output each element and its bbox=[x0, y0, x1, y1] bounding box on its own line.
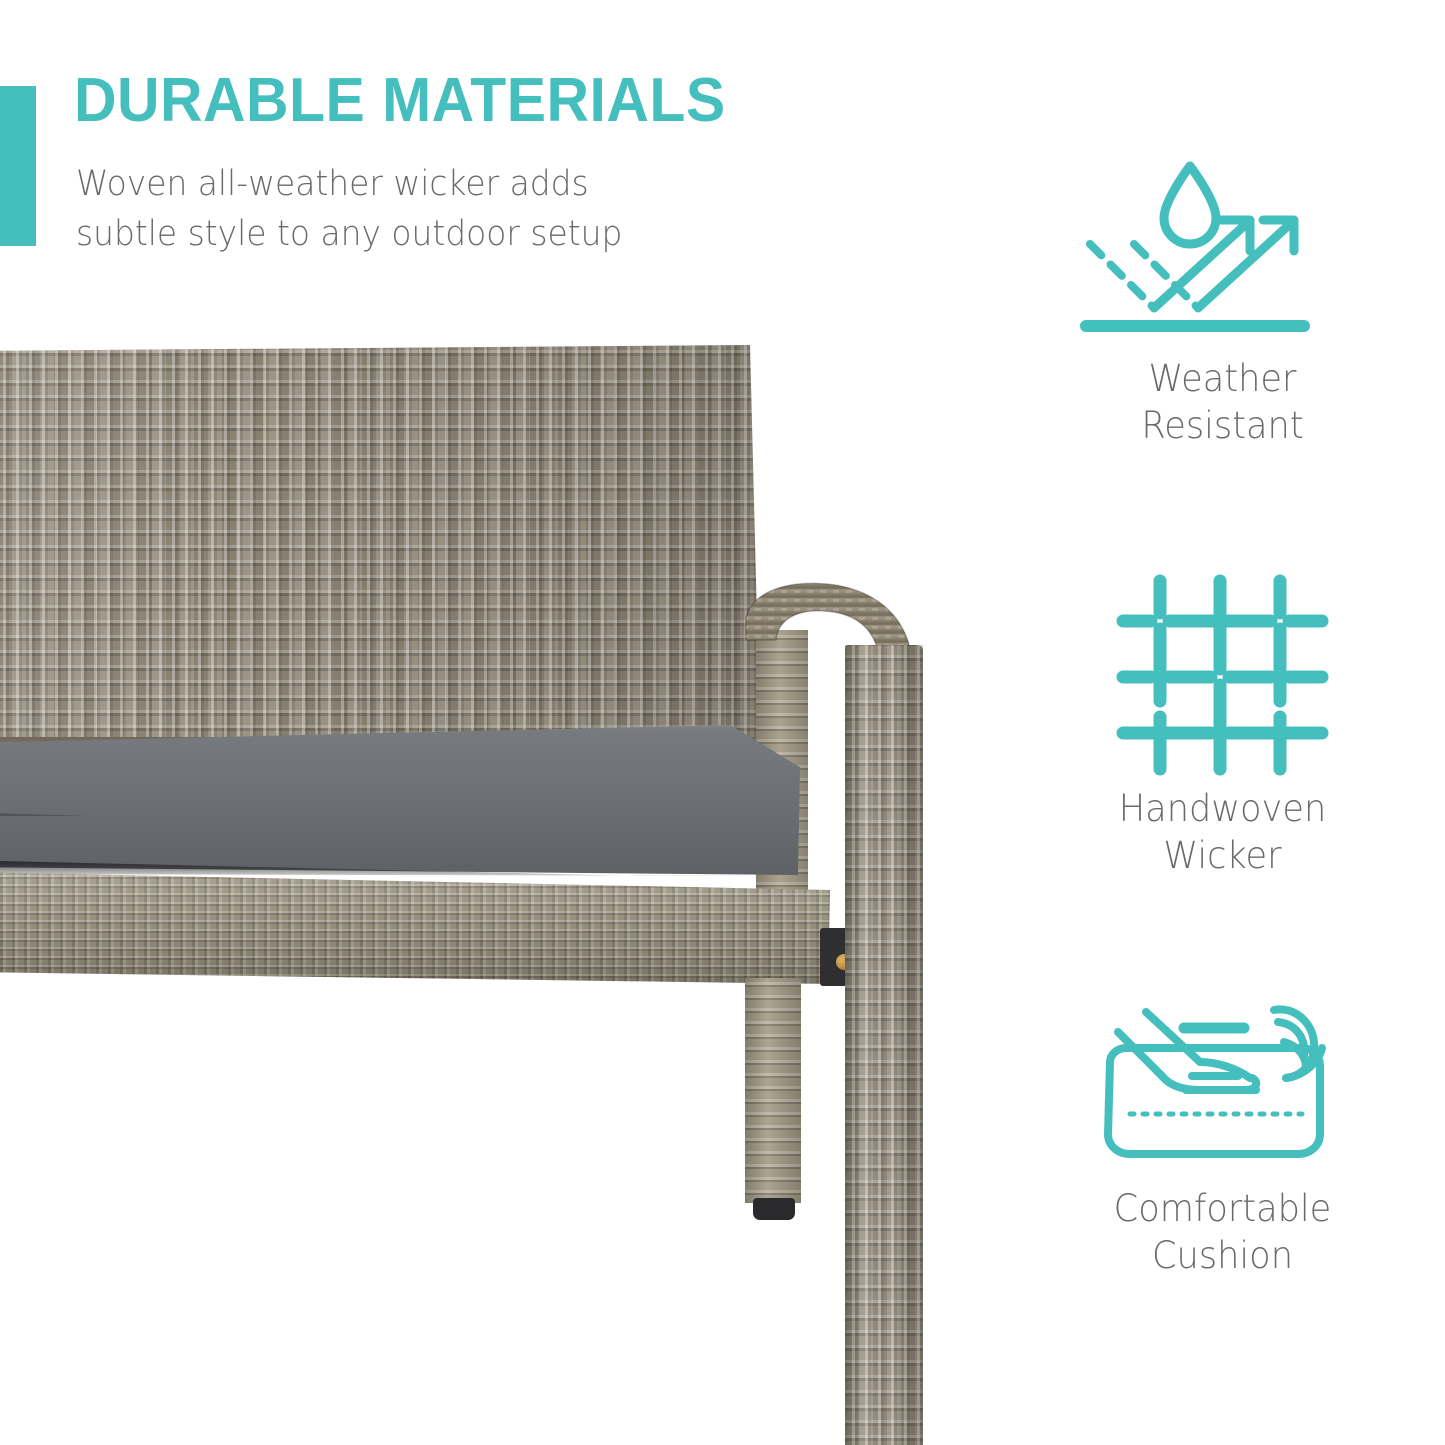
bench-front-leg bbox=[845, 645, 923, 1445]
backrest-shading bbox=[0, 345, 760, 740]
apron-shading bbox=[0, 872, 850, 992]
subtitle-line-2: subtle style to any outdoor setup bbox=[76, 210, 819, 260]
product-photo bbox=[0, 300, 1000, 1445]
feature-handwoven-wicker: Handwoven Wicker bbox=[1000, 565, 1445, 880]
feature-label-line-1: Weather bbox=[1011, 355, 1434, 402]
woven-weave-grid-icon bbox=[1000, 565, 1445, 785]
feature-label-line-2: Resistant bbox=[1011, 402, 1434, 449]
features-column: Weather Resistant Handwo bbox=[1000, 0, 1445, 1445]
bench-rear-leg bbox=[745, 978, 801, 1203]
page-title: DURABLE MATERIALS bbox=[74, 68, 726, 133]
subtitle-line-1: Woven all-weather wicker adds bbox=[76, 164, 589, 204]
front-leg-shading bbox=[845, 645, 923, 1445]
seat-cushion bbox=[0, 725, 840, 885]
feature-label-weather-resistant: Weather Resistant bbox=[1011, 355, 1434, 450]
water-droplet-repel-icon bbox=[1000, 140, 1445, 355]
feature-label-comfortable-cushion: Comfortable Cushion bbox=[1011, 1185, 1434, 1280]
feature-label-line-1: Handwoven bbox=[1011, 785, 1434, 832]
feature-label-line-1: Comfortable bbox=[1011, 1185, 1434, 1232]
feature-weather-resistant: Weather Resistant bbox=[1000, 140, 1445, 450]
rear-leg-foot bbox=[753, 1198, 795, 1220]
feature-comfortable-cushion: Comfortable Cushion bbox=[1000, 985, 1445, 1280]
hand-pressing-cushion-icon bbox=[1000, 985, 1445, 1185]
accent-bar bbox=[0, 86, 36, 246]
page-subtitle: Woven all-weather wicker adds subtle sty… bbox=[76, 160, 819, 259]
feature-label-line-2: Wicker bbox=[1011, 832, 1434, 879]
header-section: DURABLE MATERIALS Woven all-weather wick… bbox=[0, 0, 1000, 300]
feature-label-line-2: Cushion bbox=[1011, 1232, 1434, 1279]
feature-label-handwoven-wicker: Handwoven Wicker bbox=[1011, 785, 1434, 880]
seat-frame-apron bbox=[0, 872, 850, 992]
rear-leg-shading bbox=[745, 978, 801, 1203]
bench-backrest bbox=[0, 345, 760, 740]
